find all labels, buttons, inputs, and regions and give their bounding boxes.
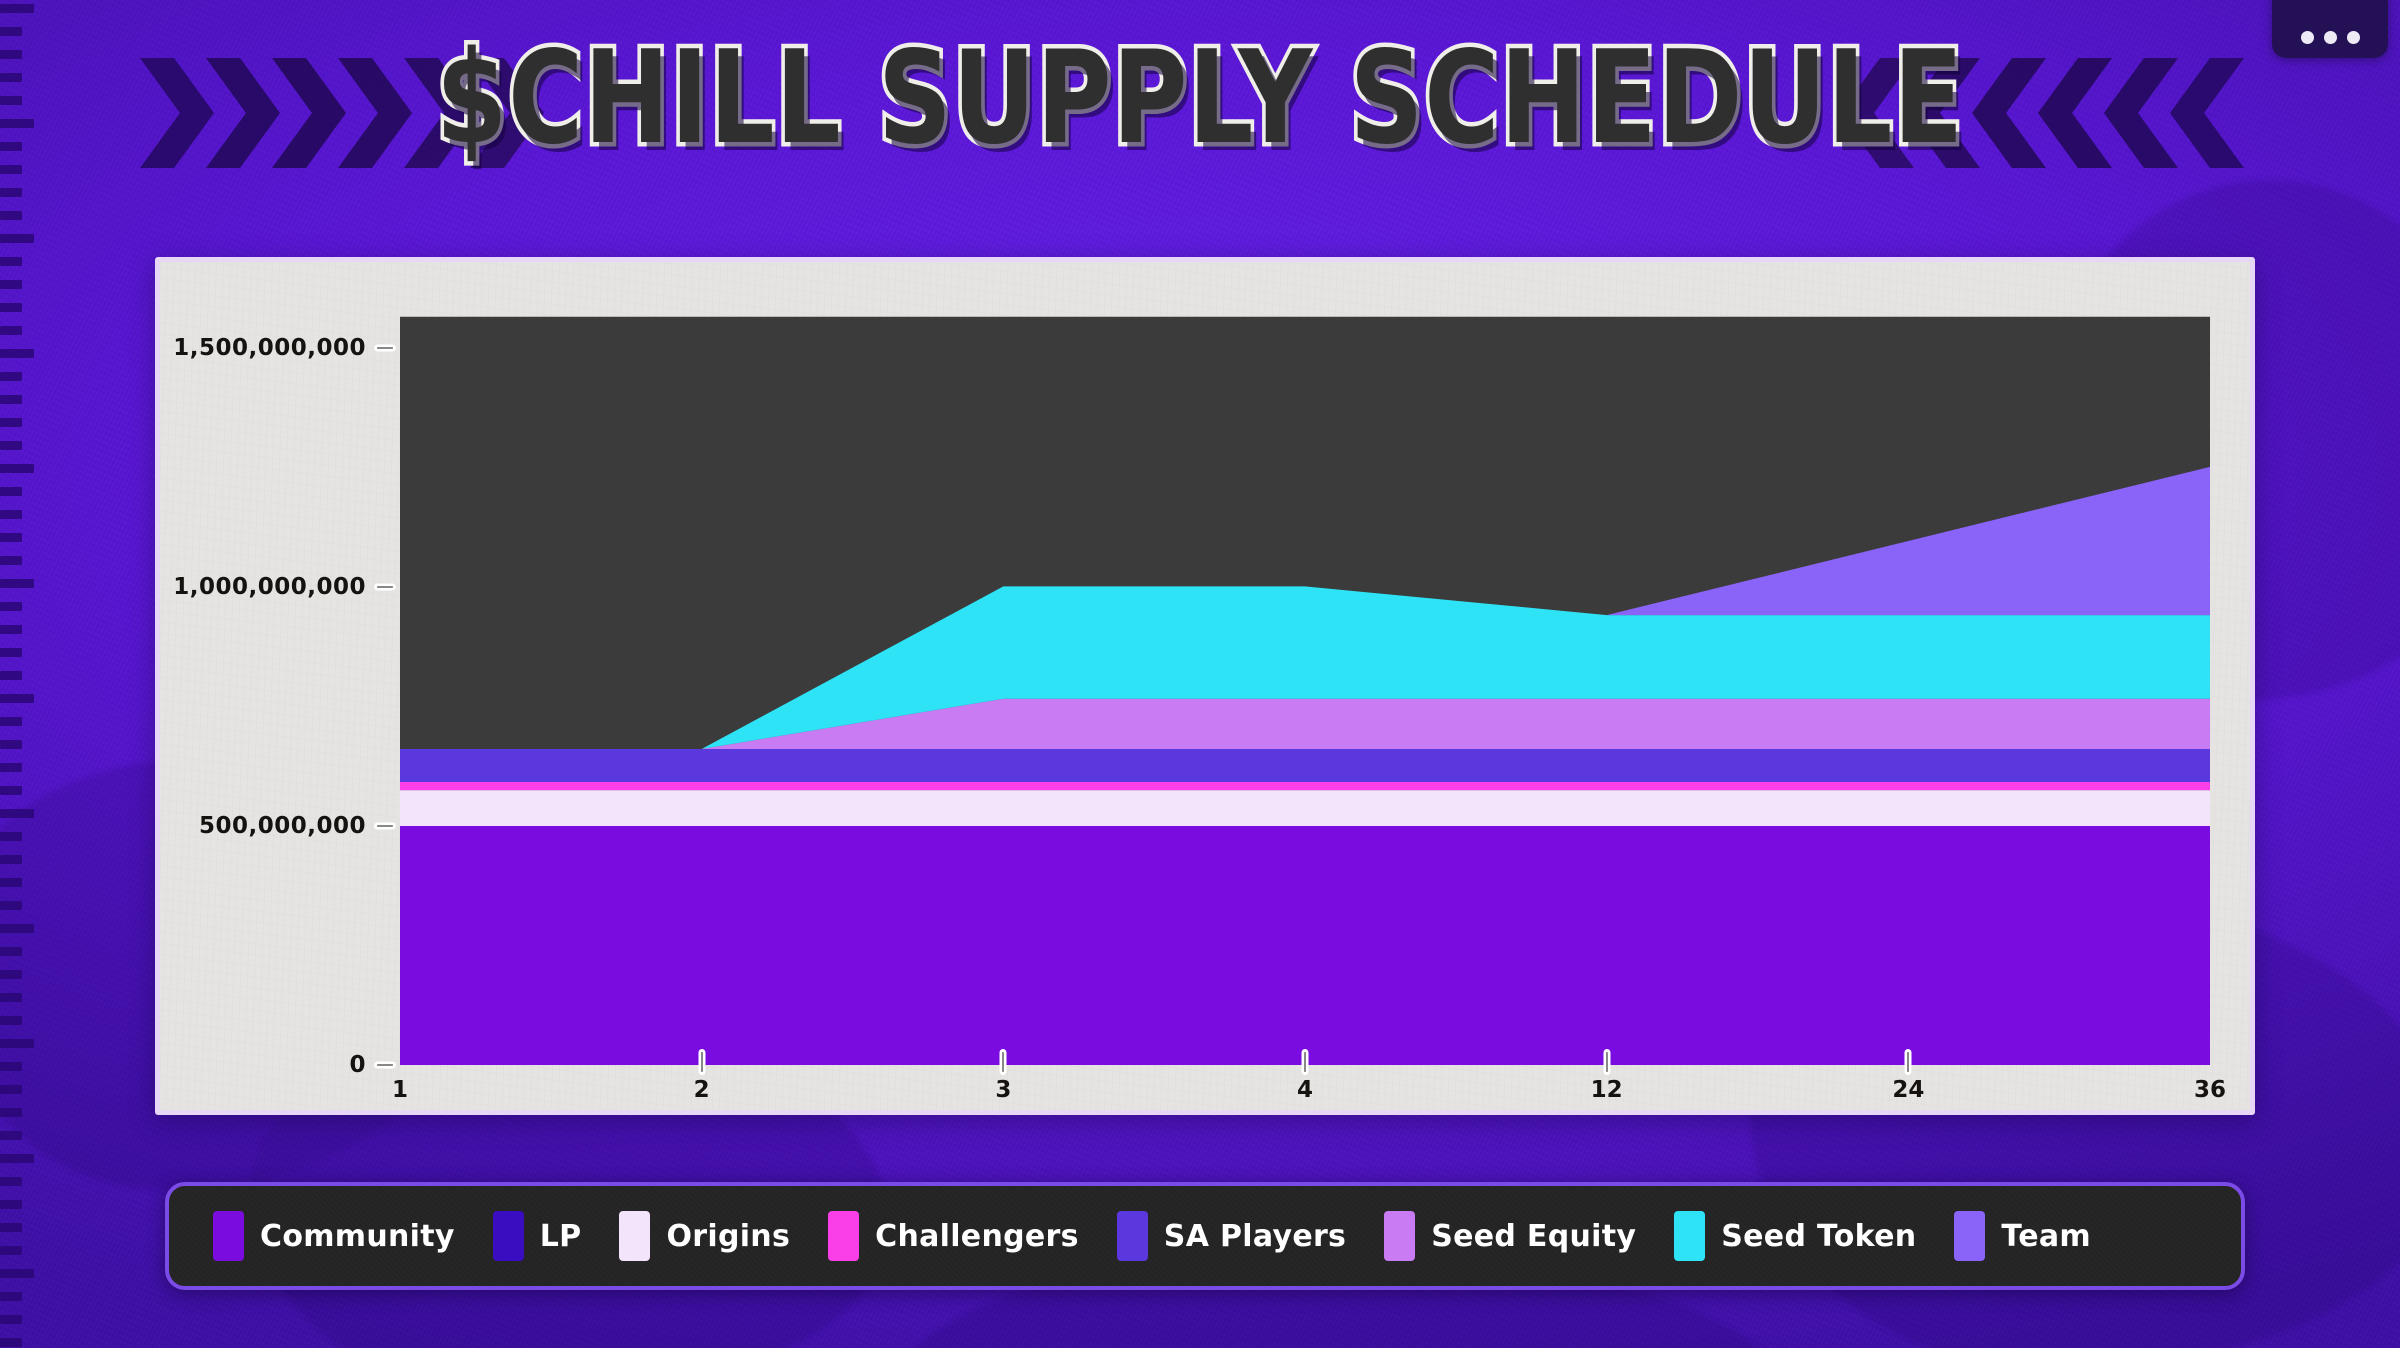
legend-swatch-icon xyxy=(1954,1211,1985,1261)
y-axis-tick-mark xyxy=(374,1062,396,1069)
legend-item-label: Team xyxy=(2001,1219,2091,1254)
x-axis-tick-label: 36 xyxy=(2194,1077,2226,1103)
legend-swatch-icon xyxy=(828,1211,859,1261)
area-series-challengers[interactable] xyxy=(400,782,2210,790)
legend-item-label: SA Players xyxy=(1164,1219,1346,1254)
y-axis-tick-mark xyxy=(374,344,396,351)
legend-item-lp[interactable]: LP xyxy=(493,1211,582,1261)
header: $CHILL SUPPLY SCHEDULE xyxy=(0,0,2400,210)
x-axis-tick-label: 12 xyxy=(1591,1077,1623,1103)
legend-item-origins[interactable]: Origins xyxy=(619,1211,790,1261)
chart-card: 0500,000,0001,000,000,0001,500,000,00012… xyxy=(155,257,2255,1115)
legend-item-seed-token[interactable]: Seed Token xyxy=(1674,1211,1916,1261)
legend-item-sa-players[interactable]: SA Players xyxy=(1117,1211,1346,1261)
legend-item-team[interactable]: Team xyxy=(1954,1211,2091,1261)
menu-dot-icon xyxy=(2324,31,2337,44)
x-axis-tick-mark xyxy=(1905,1049,1912,1075)
legend-item-label: Origins xyxy=(666,1219,790,1254)
page-title: $CHILL SUPPLY SCHEDULE xyxy=(240,24,2160,174)
legend-item-label: Challengers xyxy=(875,1219,1079,1254)
legend-item-label: Seed Equity xyxy=(1431,1219,1636,1254)
y-axis-tick-mark xyxy=(374,583,396,590)
y-axis-tick-label: 1,000,000,000 xyxy=(160,574,366,600)
area-series-sa-players[interactable] xyxy=(400,749,2210,782)
legend-item-label: LP xyxy=(540,1219,582,1254)
menu-dot-icon xyxy=(2347,31,2360,44)
legend-item-label: Community xyxy=(260,1219,455,1254)
x-axis-tick-mark xyxy=(1302,1049,1309,1075)
legend-swatch-icon xyxy=(493,1211,524,1261)
menu-dot-icon xyxy=(2301,31,2314,44)
x-axis-tick-mark xyxy=(698,1049,705,1075)
legend-item-seed-equity[interactable]: Seed Equity xyxy=(1384,1211,1636,1261)
stacked-area-chart[interactable] xyxy=(400,300,2210,1065)
x-axis-tick-label: 1 xyxy=(392,1077,408,1103)
legend-item-label: Seed Token xyxy=(1721,1219,1916,1254)
legend-swatch-icon xyxy=(619,1211,650,1261)
area-series-origins[interactable] xyxy=(400,790,2210,826)
x-axis-tick-label: 24 xyxy=(1892,1077,1924,1103)
legend-swatch-icon xyxy=(1674,1211,1705,1261)
overflow-menu-button[interactable] xyxy=(2272,0,2388,58)
legend-item-challengers[interactable]: Challengers xyxy=(828,1211,1079,1261)
x-axis-tick-mark xyxy=(1603,1049,1610,1075)
chevron-icon xyxy=(2170,58,2244,168)
legend-swatch-icon xyxy=(1384,1211,1415,1261)
area-series-community[interactable] xyxy=(400,826,2210,1065)
x-axis-tick-label: 2 xyxy=(694,1077,710,1103)
y-axis-tick-label: 0 xyxy=(160,1052,366,1078)
x-axis-tick-label: 3 xyxy=(995,1077,1011,1103)
y-axis-tick-label: 1,500,000,000 xyxy=(160,335,366,361)
y-axis-tick-mark xyxy=(374,822,396,829)
y-axis-tick-label: 500,000,000 xyxy=(160,813,366,839)
chevron-icon xyxy=(140,58,214,168)
legend-swatch-icon xyxy=(1117,1211,1148,1261)
legend-item-community[interactable]: Community xyxy=(213,1211,455,1261)
plot-area[interactable] xyxy=(400,300,2210,1065)
x-axis-tick-mark xyxy=(1000,1049,1007,1075)
legend-swatch-icon xyxy=(213,1211,244,1261)
x-axis-tick-label: 4 xyxy=(1297,1077,1313,1103)
chart-legend[interactable]: CommunityLPOriginsChallengersSA PlayersS… xyxy=(165,1182,2245,1290)
